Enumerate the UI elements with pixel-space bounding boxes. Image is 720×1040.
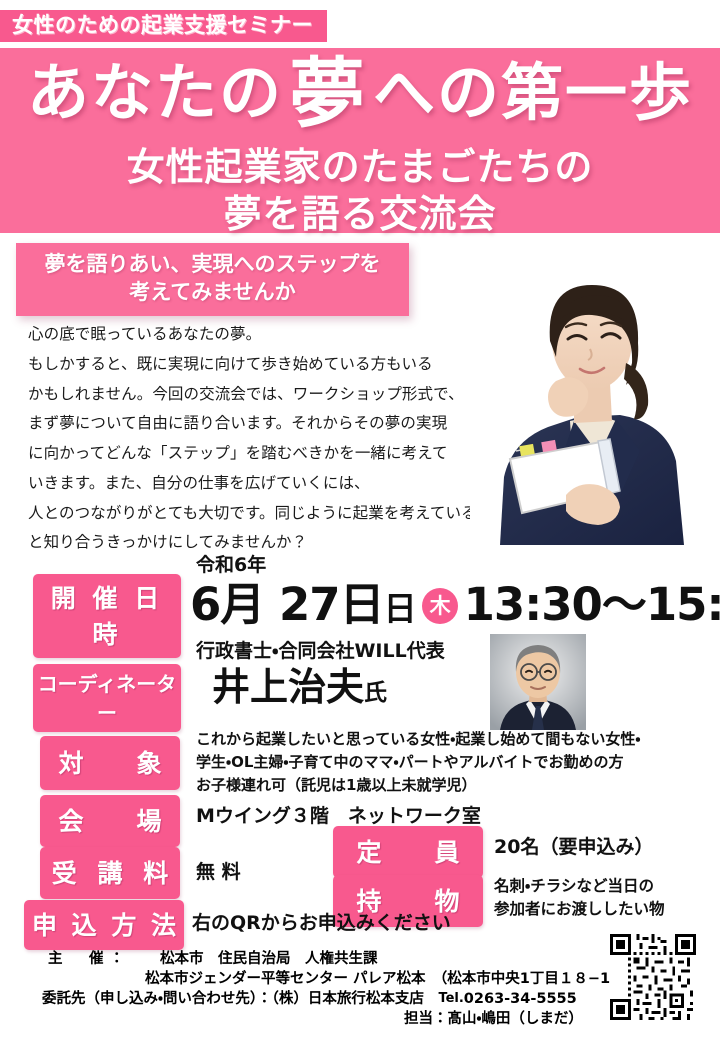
label-capacity: 定 員 [333,826,483,878]
footer-organizer-label: 主 催： [48,951,130,967]
hero-title-keyword: 夢 [283,49,373,138]
hero-subtitle: 女性起業家のたまごたちの 夢を語る交流会 [0,144,720,237]
footer-staff-line: 担当：髙山・嶋田（しまだ） [404,1008,583,1031]
row-coordinator: コーディネーター 行政書士・合同会社WILL代表 井上治夫氏 [0,636,720,712]
catch-copy-line2: 考えてみませんか [22,278,403,306]
lead-line-1: 心の底で眠っているあなたの夢。 [28,320,498,350]
coordinator-portrait-photo [490,634,586,730]
lead-line-3: かもしれません。今回の交流会では、ワークショップ形式で、 [28,380,498,410]
eyebrow-banner: 女性のための起業支援セミナー [0,10,327,42]
apply-method-value: 右のQRからお申込みください [192,908,451,935]
capacity-value: 20名（要申込み） [494,832,653,859]
date-value: 6月 27日日木13:30〜15:30 [190,568,720,633]
venue-value: Mウイング３階 ネットワーク室 [196,801,481,828]
lead-paragraph: 心の底で眠っているあなたの夢。 もしかすると、既に実現に向けて歩き始めている方も… [28,320,498,558]
hero-title: あなたの夢への第一歩 [0,54,720,134]
target-line-1: これから起業したいと思っている女性・起業し始めて間もない女性・ [196,728,716,751]
date-day-of-week: 木 [422,588,458,624]
seminar-flyer: 女性のための起業支援セミナー あなたの夢への第一歩 女性起業家のたまごたちの 夢… [0,0,720,1040]
label-target: 対 象 [40,736,180,790]
catch-copy-box: 夢を語りあい、実現へのステップを 考えてみませんか [16,243,409,316]
date-day-unit: 日 [384,589,416,628]
footer-tel-number[interactable]: 0263-34-5555 [464,991,577,1007]
label-fee: 受 講 料 [40,847,180,899]
fee-value: 無 料 [196,857,241,884]
footer-contractor-text: 委託先（申し込み・問い合わせ先）：（株）日本旅行松本支店 [42,991,438,1007]
lead-line-2: もしかすると、既に実現に向けて歩き始めている方もいる [28,350,498,380]
hero-subtitle-line1: 女性起業家のたまごたちの [0,144,720,191]
lead-line-4: まず夢について自由に語り合います。それからその夢の実現 [28,409,498,439]
lead-line-5: に向かってどんな「ステップ」を踏むべきかを一緒に考えて [28,439,498,469]
date-month-day: 6月 27日 [190,578,384,631]
hero-title-part1: あなたの [27,56,283,129]
hero-title-part2: への第一歩 [373,56,693,129]
target-line-3: お子様連れ可（託児は1歳以上未就学児） [196,774,716,797]
label-coordinator: コーディネーター [33,664,181,732]
label-venue: 会 場 [40,795,180,847]
bring-line-2: 参加者にお渡ししたい物 [494,898,665,921]
lead-line-6: いきます。また、自分の仕事を広げていくには、 [28,469,498,499]
coordinator-name-suffix: 氏 [364,680,387,706]
coordinator-name-text: 井上治夫 [212,665,364,709]
target-line-2: 学生・OL主婦・子育て中のママ・パートやアルバイトでお勤めの方 [196,751,716,774]
hero-banner: あなたの夢への第一歩 女性起業家のたまごたちの 夢を語る交流会 [0,48,720,233]
catch-copy-line1: 夢を語りあい、実現へのステップを [22,250,403,278]
date-time: 13:30〜15:30 [464,578,720,631]
woman-thinking-photo [470,245,700,545]
bring-line-1: 名刺・チラシなど当日の [494,875,665,898]
footer-organizer-value1: 松本市 住民自治局 人権共生課 [160,951,378,967]
row-date: 令和6年 開 催 日 時 6月 27日日木13:30〜15:30 [0,550,720,620]
coordinator-name: 井上治夫氏 [212,656,387,711]
target-value: これから起業したいと思っている女性・起業し始めて間もない女性・ 学生・OL主婦・… [196,728,716,796]
telephone-icon: Tel. [438,991,463,1006]
application-qr-code[interactable] [610,934,696,1020]
lead-line-7: 人とのつながりがとても大切です。同じように起業を考えている人 [28,499,498,529]
bring-value: 名刺・チラシなど当日の 参加者にお渡ししたい物 [494,875,665,921]
label-apply-method: 申 込 方 法 [24,900,184,950]
hero-subtitle-line2: 夢を語る交流会 [0,191,720,238]
